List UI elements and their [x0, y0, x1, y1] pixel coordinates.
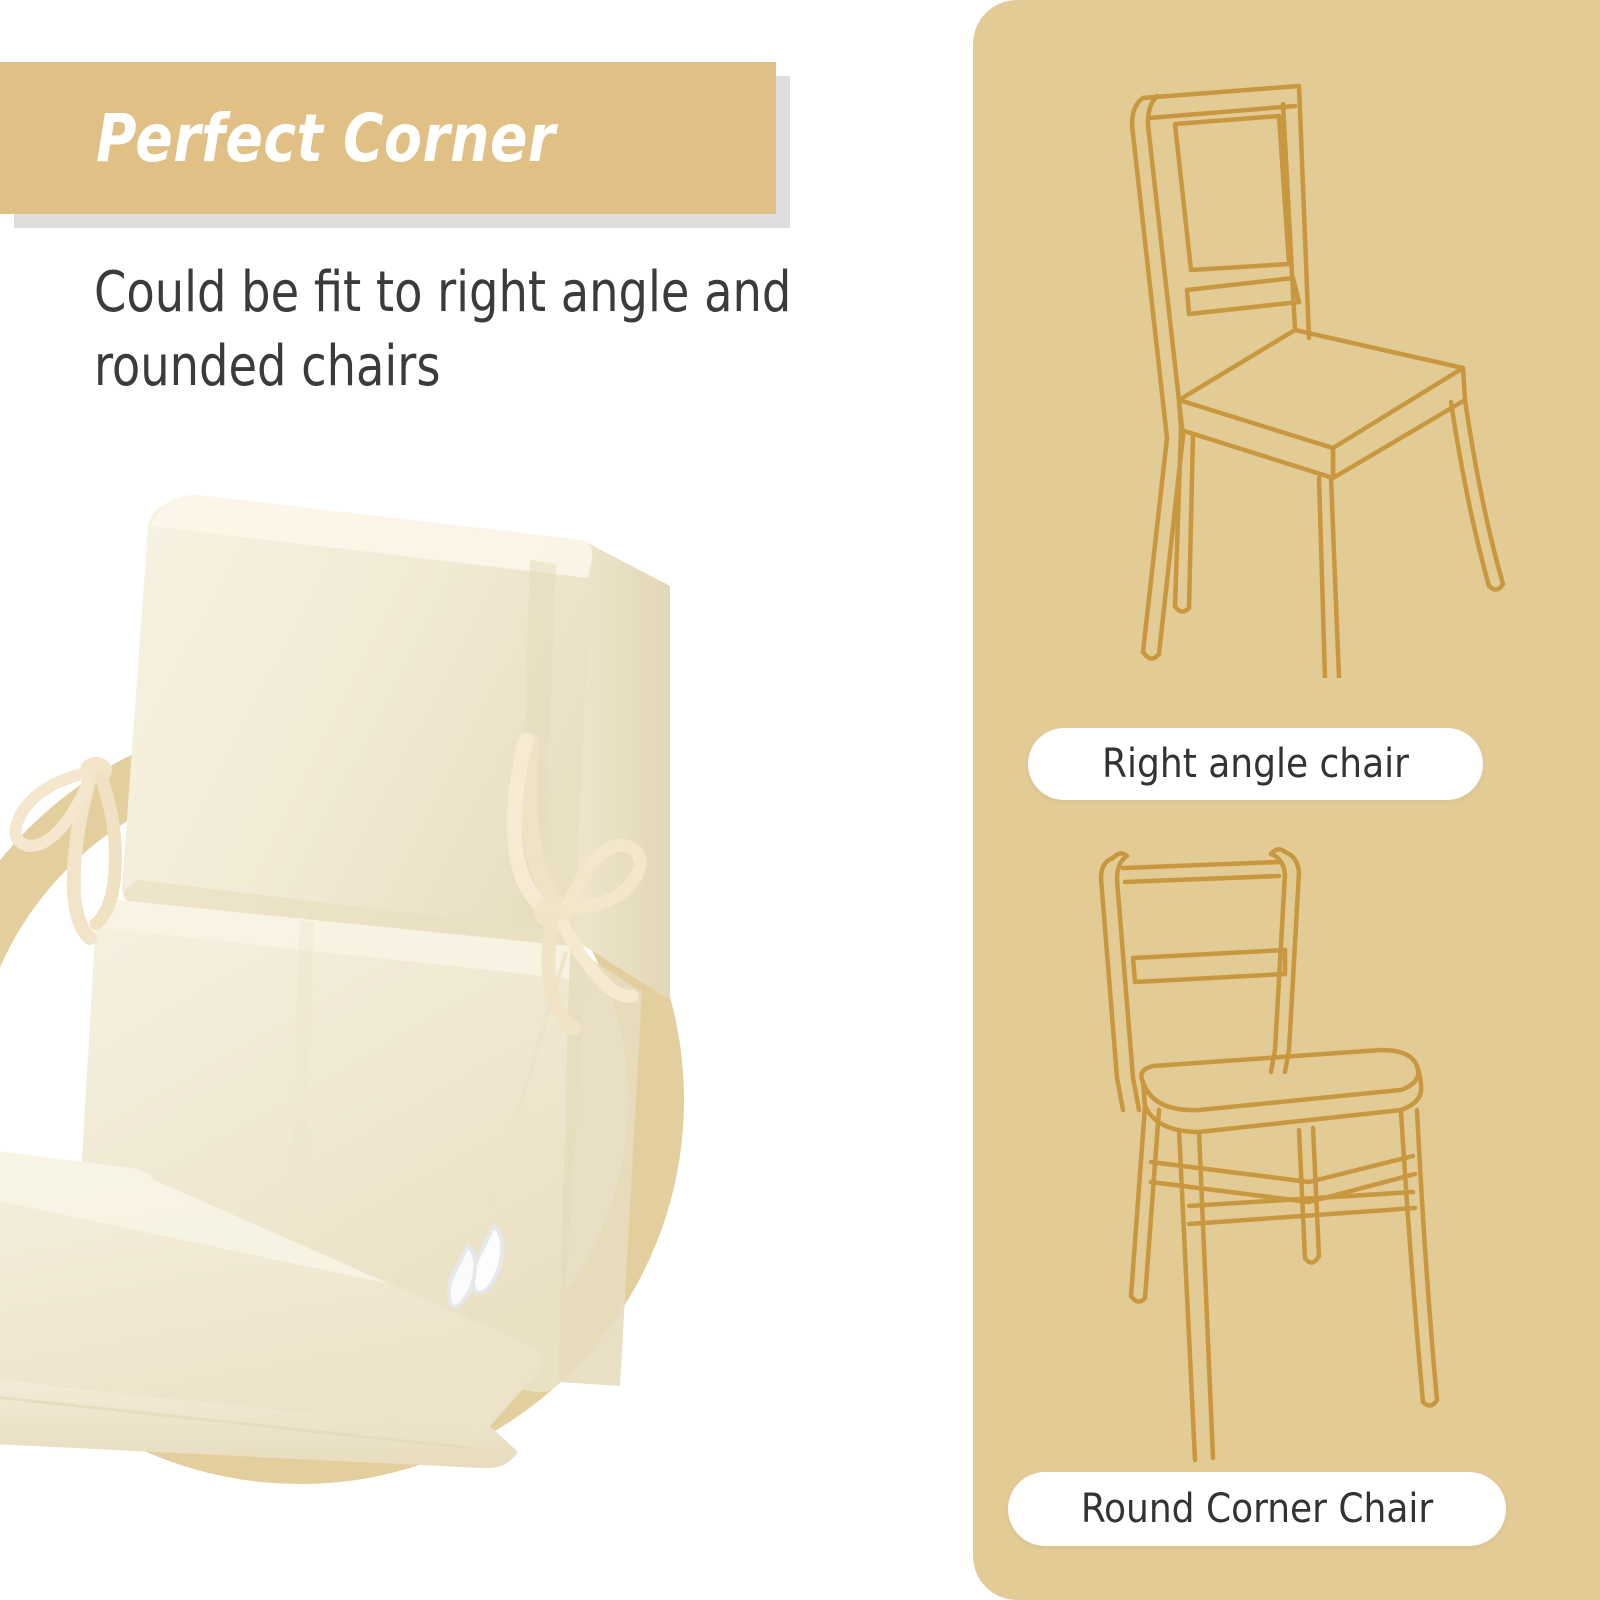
round-corner-chair-illustration	[1013, 810, 1513, 1470]
chair-label-text: Right angle chair	[1102, 741, 1409, 787]
right-angle-chair-illustration	[1033, 38, 1513, 678]
chair-label-text: Round Corner Chair	[1081, 1486, 1433, 1532]
page-subtitle: Could be fit to right angle and rounded …	[94, 256, 858, 404]
chair-label-pill-round-corner: Round Corner Chair	[1008, 1472, 1506, 1546]
infographic-canvas: Perfect Corner Could be fit to right ang…	[0, 0, 1600, 1600]
page-title: Perfect Corner	[96, 100, 556, 177]
title-banner: Perfect Corner	[0, 62, 790, 214]
chair-label-pill-right-angle: Right angle chair	[1028, 728, 1483, 800]
title-banner-fill: Perfect Corner	[0, 62, 776, 214]
product-photo	[0, 440, 730, 1500]
chair-examples-panel: Right angle chair	[973, 0, 1600, 1600]
